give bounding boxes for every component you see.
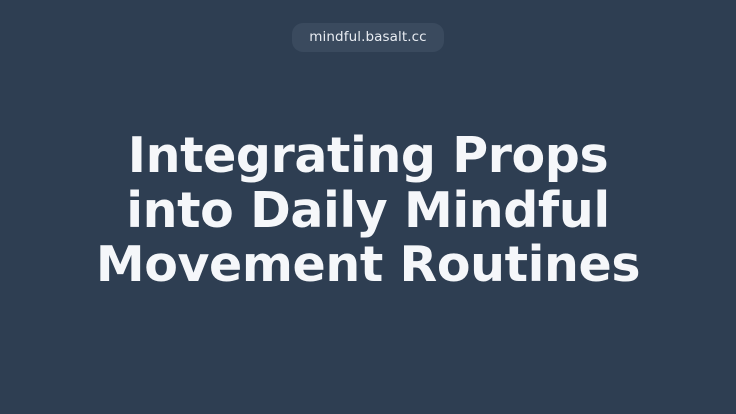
title-slide: mindful.basalt.cc Integrating Props into…: [0, 0, 736, 414]
page-title-line-3: Movement Routines: [58, 238, 678, 293]
site-domain-badge: mindful.basalt.cc: [292, 23, 443, 52]
page-title: Integrating Props into Daily Mindful Mov…: [58, 129, 678, 294]
title-block: Integrating Props into Daily Mindful Mov…: [0, 0, 736, 414]
page-title-line-1: Integrating Props: [58, 129, 678, 184]
page-title-line-2: into Daily Mindful: [58, 184, 678, 239]
badge-row: mindful.basalt.cc: [0, 23, 736, 52]
